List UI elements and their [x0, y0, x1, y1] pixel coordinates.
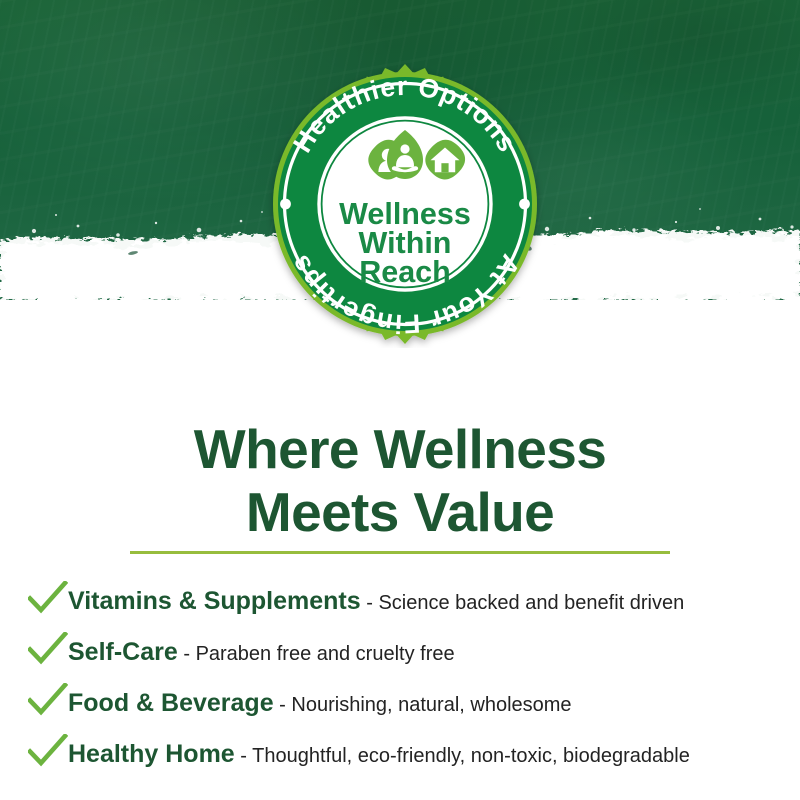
- list-item: Vitamins & Supplements - Science backed …: [28, 575, 788, 626]
- list-item: Self-Care - Paraben free and cruelty fre…: [28, 626, 788, 677]
- list-item-term: Food & Beverage: [68, 689, 274, 717]
- badge-dot-left: [280, 199, 291, 210]
- checkmark-icon: [28, 632, 68, 666]
- list-item-text: Self-Care - Paraben free and cruelty fre…: [68, 638, 788, 667]
- list-item-desc: Paraben free and cruelty free: [196, 643, 455, 665]
- badge-center-line3: Reach: [359, 255, 451, 289]
- list-item-dash: -: [366, 592, 373, 614]
- list-item-text: Vitamins & Supplements - Science backed …: [68, 587, 788, 616]
- list-item: Food & Beverage - Nourishing, natural, w…: [28, 677, 788, 728]
- list-item-term: Healthy Home: [68, 740, 235, 768]
- list-item-text: Healthy Home - Thoughtful, eco-friendly,…: [68, 740, 788, 769]
- headline-line-1: Where Wellness: [194, 418, 606, 480]
- list-item-term: Vitamins & Supplements: [68, 587, 361, 615]
- list-item-dash: -: [240, 745, 247, 767]
- headline-line-2: Meets Value: [0, 481, 800, 544]
- headline-divider: [130, 551, 670, 554]
- checkmark-icon: [28, 581, 68, 615]
- list-item-dash: -: [183, 643, 190, 665]
- feature-list: Vitamins & Supplements - Science backed …: [28, 575, 788, 779]
- badge-dot-right: [519, 199, 530, 210]
- badge-seal: Healthier Options At Your Fingertips: [261, 60, 549, 348]
- checkmark-icon: [28, 734, 68, 768]
- list-item-text: Food & Beverage - Nourishing, natural, w…: [68, 689, 788, 718]
- list-item-desc: Thoughtful, eco-friendly, non-toxic, bio…: [252, 745, 690, 767]
- list-item-dash: -: [279, 694, 286, 716]
- list-item-term: Self-Care: [68, 638, 178, 666]
- list-item-desc: Science backed and benefit driven: [378, 592, 684, 614]
- checkmark-icon: [28, 683, 68, 717]
- list-item-desc: Nourishing, natural, wholesome: [291, 694, 571, 716]
- list-item: Healthy Home - Thoughtful, eco-friendly,…: [28, 728, 788, 779]
- page-title: Where Wellness Meets Value: [0, 418, 800, 545]
